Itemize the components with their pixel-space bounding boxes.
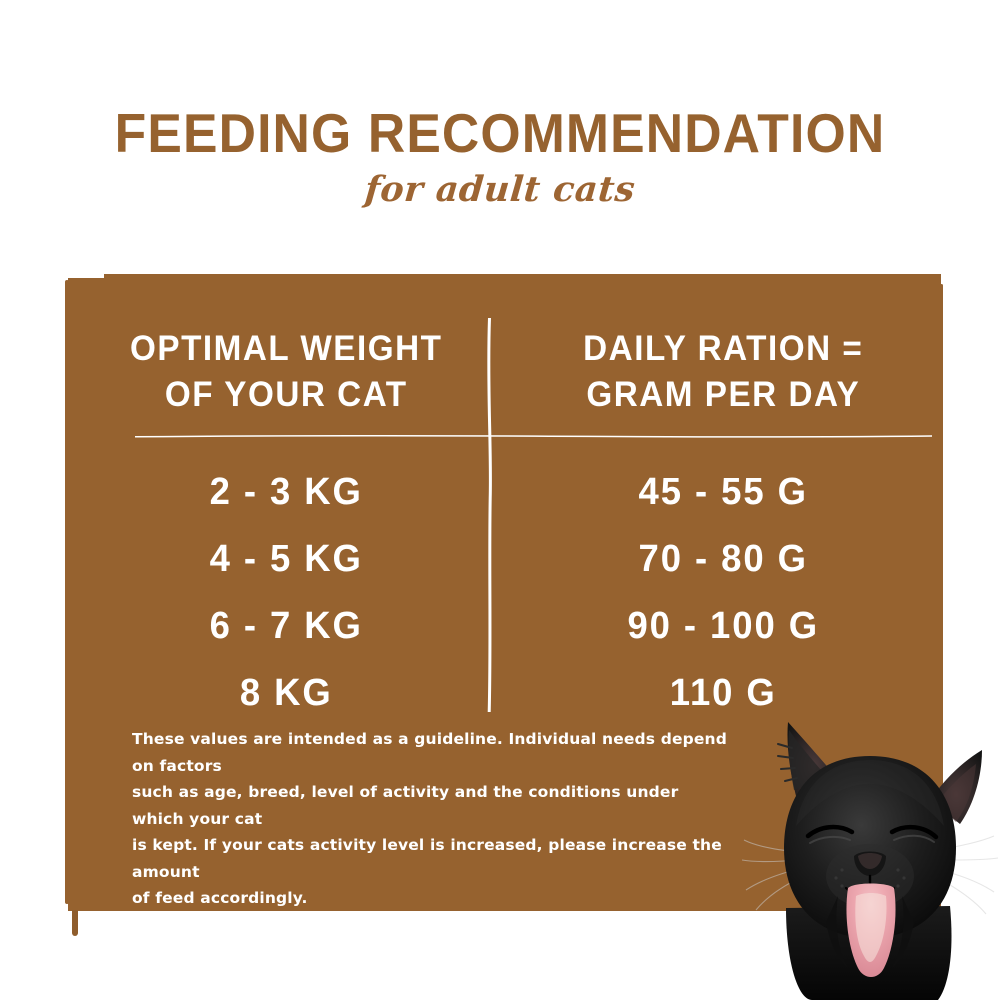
panel-brush-tail — [72, 910, 78, 936]
disclaimer-line-2: such as age, breed, level of activity an… — [132, 779, 732, 832]
table-header-row: OPTIMAL WEIGHT OF YOUR CAT DAILY RATION … — [68, 326, 941, 418]
panel-edge-notch — [68, 270, 104, 278]
column-header-weight-line1: OPTIMAL WEIGHT — [130, 329, 443, 368]
header-block: FEEDING RECOMMENDATION for adult cats — [0, 104, 1000, 210]
column-header-weight-line2: OF YOUR CAT — [79, 372, 494, 418]
column-header-weight: OPTIMAL WEIGHT OF YOUR CAT — [79, 326, 494, 418]
cell-weight: 8 KG — [77, 672, 496, 715]
disclaimer-line-5: Fresh water should always be available. — [132, 912, 732, 939]
disclaimer-line-4: of feed accordingly. — [132, 885, 732, 912]
column-header-ration-line1: DAILY RATION = — [583, 329, 863, 368]
cell-weight: 2 - 3 KG — [77, 471, 496, 514]
page-subtitle: for adult cats — [0, 170, 1000, 210]
table-row: 4 - 5 KG 70 - 80 G — [68, 526, 941, 593]
column-header-ration: DAILY RATION = GRAM PER DAY — [515, 326, 930, 418]
black-cat-illustration — [742, 700, 1000, 1000]
cell-ration: 45 - 55 G — [513, 471, 932, 514]
table-row: 6 - 7 KG 90 - 100 G — [68, 593, 941, 660]
cat-photo — [742, 700, 1000, 1000]
cell-weight: 4 - 5 KG — [77, 538, 496, 581]
column-header-ration-line2: GRAM PER DAY — [515, 372, 930, 418]
table-row: 2 - 3 KG 45 - 55 G — [68, 459, 941, 526]
cell-weight: 6 - 7 KG — [77, 605, 496, 648]
page-title: FEEDING RECOMMENDATION — [30, 104, 970, 162]
header-divider-line — [135, 435, 932, 438]
table-body: 2 - 3 KG 45 - 55 G 4 - 5 KG 70 - 80 G 6 … — [68, 459, 941, 727]
cell-ration: 90 - 100 G — [513, 605, 932, 648]
disclaimer-line-6: Fill bowl once a day for all-day self-se… — [132, 938, 732, 965]
feeding-recommendation-poster: FEEDING RECOMMENDATION for adult cats OP… — [0, 0, 1000, 1000]
disclaimer-line-3: is kept. If your cats activity level is … — [132, 832, 732, 885]
disclaimer-text: These values are intended as a guideline… — [132, 726, 732, 965]
cell-ration: 70 - 80 G — [513, 538, 932, 581]
disclaimer-line-1: These values are intended as a guideline… — [132, 726, 732, 779]
